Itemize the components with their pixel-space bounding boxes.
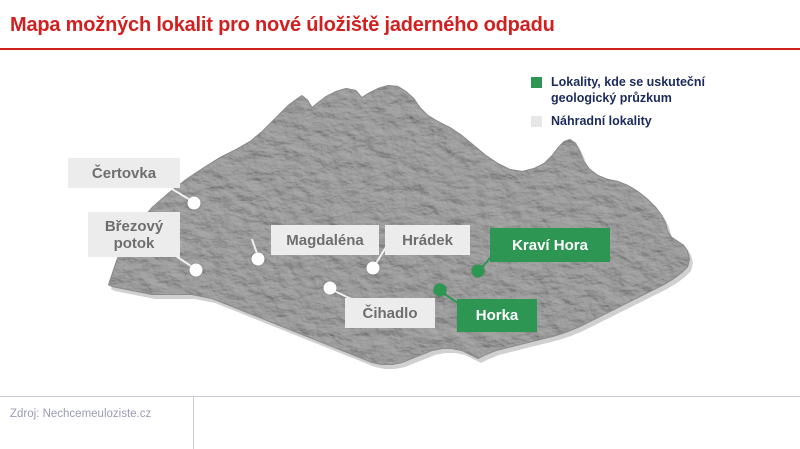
site-label-horka[interactable]: Horka: [457, 299, 537, 332]
footer-vertical-divider: [193, 397, 194, 449]
site-label-cihadlo[interactable]: Čihadlo: [345, 298, 435, 328]
site-dot-certovka[interactable]: [188, 197, 201, 210]
site-dot-magdalena[interactable]: [252, 253, 265, 266]
source-credit: Zdroj: Nechcemeuloziste.cz: [10, 408, 151, 420]
footer-divider: [0, 396, 800, 397]
map-stage: Čertovka Březový potok Magdaléna Hrádek …: [0, 55, 800, 395]
site-dot-brezovy-potok[interactable]: [190, 264, 203, 277]
site-label-magdalena[interactable]: Magdaléna: [271, 225, 379, 255]
page-title: Mapa možných lokalit pro nové úložiště j…: [10, 14, 555, 37]
header-divider: [0, 48, 800, 50]
site-dot-cihadlo[interactable]: [324, 282, 337, 295]
site-label-hradek[interactable]: Hrádek: [385, 225, 470, 255]
site-label-certovka[interactable]: Čertovka: [68, 158, 180, 188]
site-label-kravi-hora[interactable]: Kraví Hora: [490, 228, 610, 262]
site-dot-hradek[interactable]: [367, 262, 380, 275]
site-dot-horka[interactable]: [434, 284, 447, 297]
site-dot-kravi-hora[interactable]: [472, 265, 485, 278]
site-label-brezovy-potok[interactable]: Březový potok: [88, 212, 180, 257]
infographic-root: Mapa možných lokalit pro nové úložiště j…: [0, 0, 800, 449]
